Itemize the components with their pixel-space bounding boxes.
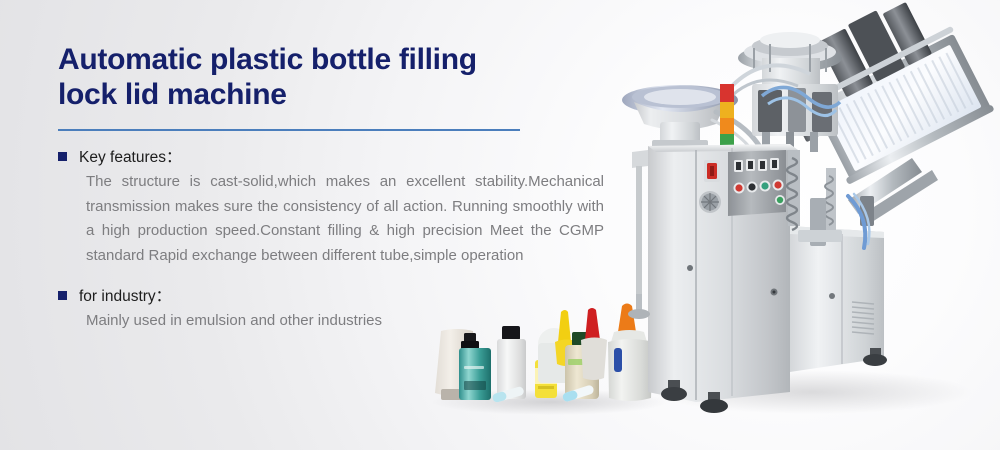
bottle-red-cone [581, 308, 607, 380]
bullet-row: Key features： [58, 147, 618, 168]
feature-body: The structure is cast-solid,which makes … [86, 170, 604, 268]
right-lower-cabinet [790, 226, 884, 372]
feature-heading: Key features： [79, 147, 182, 168]
emergency-stop-switch [704, 160, 720, 182]
feature-block-key-features: Key features： The structure is cast-soli… [58, 147, 618, 268]
bottle-teal-rect [459, 333, 491, 400]
control-panel [728, 150, 786, 216]
square-bullet-icon [58, 291, 67, 300]
text-column: Automatic plastic bottle filling lock li… [58, 42, 618, 334]
title-divider [58, 129, 520, 131]
feature-heading: for industry： [79, 286, 171, 307]
page-title: Automatic plastic bottle filling lock li… [58, 42, 618, 112]
filling-capping-machine-image [612, 0, 1000, 430]
product-banner: Automatic plastic bottle filling lock li… [0, 0, 1000, 450]
square-bullet-icon [58, 152, 67, 161]
